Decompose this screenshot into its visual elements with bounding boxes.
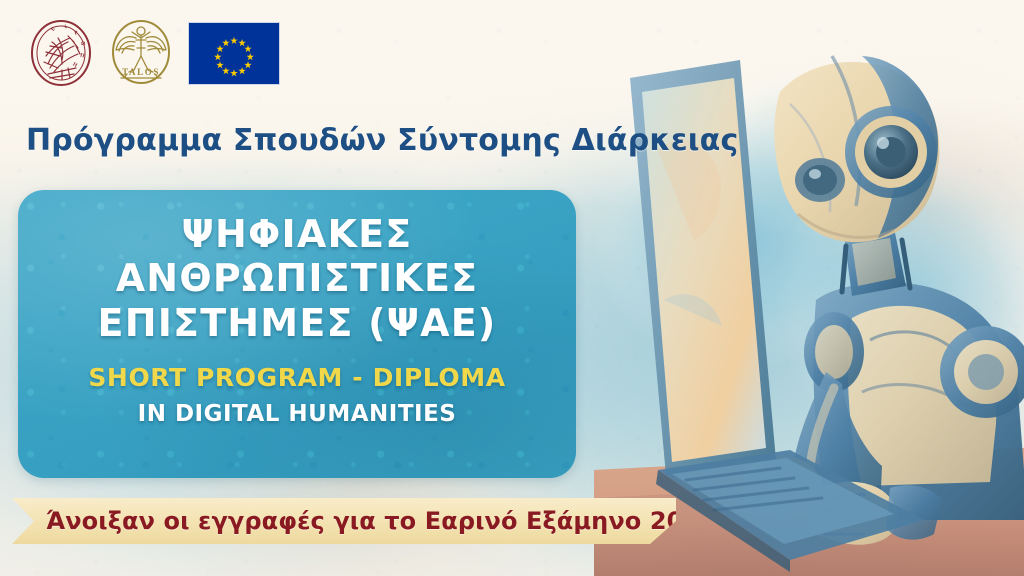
poster-canvas: Ε Υ Ρ Ω Π Η: [0, 0, 1024, 576]
main-title-panel: ΨΗΦΙΑΚΕΣ ΑΝΘΡΩΠΙΣΤΙΚΕΣ ΕΠΙΣΤΗΜΕΣ (ΨΑΕ) S…: [18, 190, 576, 478]
enrollment-ribbon-text: Άνοιξαν οι εγγραφές για το Εαρινό Εξάμην…: [46, 507, 728, 535]
program-title-line-3: ΕΠΙΣΤΗΜΕΣ (ΨΑΕ): [98, 301, 497, 345]
program-title-greek: ΨΗΦΙΑΚΕΣ ΑΝΘΡΩΠΙΣΤΙΚΕΣ ΕΠΙΣΤΗΜΕΣ (ΨΑΕ): [98, 212, 497, 345]
eu-flag-logo: [188, 22, 280, 85]
program-kicker-title: Πρόγραμμα Σπουδών Σύντομης Διάρκειας: [26, 123, 738, 158]
svg-text:Ρ: Ρ: [74, 30, 80, 37]
university-seal-logo: Ε Υ Ρ Ω Π Η: [28, 18, 94, 88]
svg-text:TALOS: TALOS: [122, 67, 160, 77]
program-title-line-2: ΑΝΘΡΩΠΙΣΤΙΚΕΣ: [98, 256, 497, 300]
program-subtitle-english: SHORT PROGRAM - DIPLOMA: [88, 363, 505, 392]
svg-text:Ω: Ω: [81, 41, 86, 47]
robot-illustration: [594, 0, 1024, 576]
logo-strip: Ε Υ Ρ Ω Π Η: [28, 18, 280, 88]
svg-text:Η: Η: [71, 61, 78, 69]
panel-content: ΨΗΦΙΑΚΕΣ ΑΝΘΡΩΠΙΣΤΙΚΕΣ ΕΠΙΣΤΗΜΕΣ (ΨΑΕ) S…: [18, 190, 576, 478]
program-subtitle-english-line-2: IN DIGITAL HUMANITIES: [138, 401, 457, 427]
program-title-line-1: ΨΗΦΙΑΚΕΣ: [98, 212, 497, 256]
talos-seal-logo: TALOS: [108, 18, 174, 88]
enrollment-ribbon: Άνοιξαν οι εγγραφές για το Εαρινό Εξάμην…: [12, 498, 676, 544]
